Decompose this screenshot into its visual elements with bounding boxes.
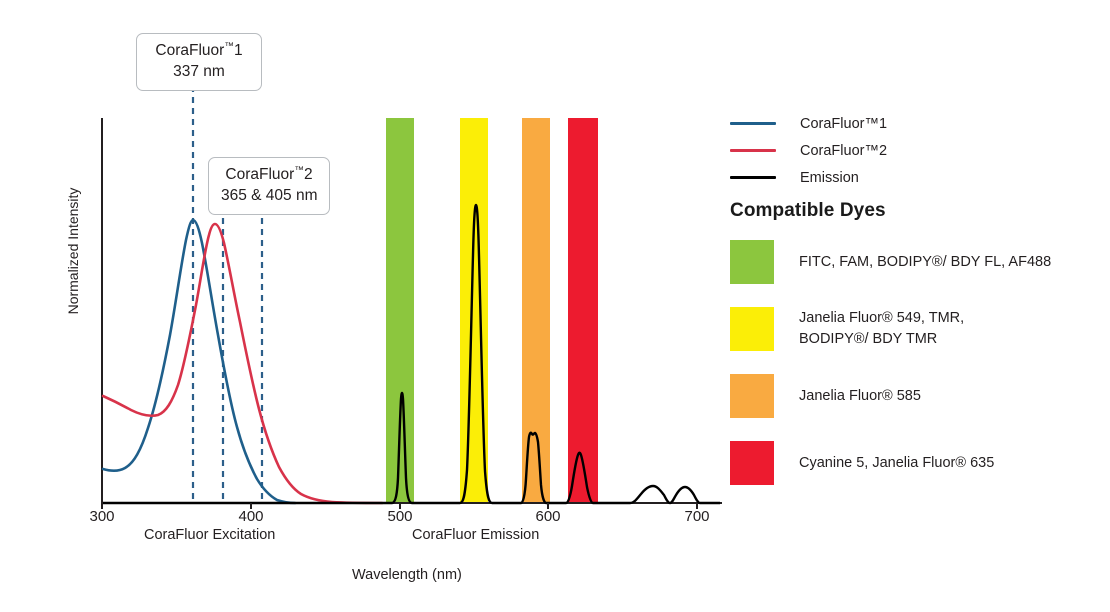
dye-label-yellow: Janelia Fluor® 549, TMR, BODIPY®/ BDY TM… [799, 308, 964, 349]
dye-item-red: Cyanine 5, Janelia Fluor® 635 [730, 438, 1110, 488]
legend-item-emission: Emission [730, 164, 1110, 191]
dye-color-swatch-red [730, 441, 774, 485]
legend-label-emission: Emission [800, 170, 859, 186]
emission-bands [386, 118, 598, 503]
legend-line-swatch-corafluor-1 [730, 122, 776, 125]
callout-corafluor-2: CoraFluor™2 365 & 405 nm [208, 157, 330, 215]
fluorescence-spectra-figure: Normalized Intensity 300 400 500 600 700… [0, 0, 1110, 612]
compatible-dyes-list: FITC, FAM, BODIPY®/ BDY FL, AF488 Janeli… [730, 237, 1110, 505]
dye-color-swatch-yellow [730, 307, 774, 351]
band-red [568, 118, 598, 503]
callout-2-title: CoraFluor™2 [221, 165, 317, 186]
dye-color-swatch-green [730, 240, 774, 284]
x-tick-600: 600 [518, 508, 578, 525]
compatible-dyes-heading: Compatible Dyes [730, 200, 886, 222]
emission-region-caption: CoraFluor Emission [412, 527, 539, 543]
dye-label-orange: Janelia Fluor® 585 [799, 386, 921, 407]
dye-item-yellow: Janelia Fluor® 549, TMR, BODIPY®/ BDY TM… [730, 304, 1110, 354]
x-tick-500: 500 [370, 508, 430, 525]
legend-label-corafluor-2: CoraFluor™2 [800, 143, 887, 159]
x-tick-400: 400 [221, 508, 281, 525]
plot-area: Normalized Intensity 300 400 500 600 700… [0, 0, 730, 612]
curve-corafluor-1 [103, 220, 295, 503]
legend-item-corafluor-1: CoraFluor™1 [730, 110, 1110, 137]
dye-label-red: Cyanine 5, Janelia Fluor® 635 [799, 453, 994, 474]
dye-item-green: FITC, FAM, BODIPY®/ BDY FL, AF488 [730, 237, 1110, 287]
x-axis-title: Wavelength (nm) [352, 567, 462, 583]
excitation-region-caption: CoraFluor Excitation [144, 527, 275, 543]
curve-corafluor-2 [103, 224, 382, 503]
legend-label-corafluor-1: CoraFluor™1 [800, 116, 887, 132]
excitation-reference-lines [193, 86, 262, 503]
callout-2-value: 365 & 405 nm [221, 186, 317, 206]
legend-item-corafluor-2: CoraFluor™2 [730, 137, 1110, 164]
dye-item-orange: Janelia Fluor® 585 [730, 371, 1110, 421]
band-orange [522, 118, 550, 503]
legend-line-swatch-corafluor-2 [730, 149, 776, 152]
legend-panel: CoraFluor™1 CoraFluor™2 Emission Compati… [730, 0, 1110, 612]
dye-label-green: FITC, FAM, BODIPY®/ BDY FL, AF488 [799, 252, 1051, 273]
y-axis-title: Normalized Intensity [65, 171, 81, 331]
callout-corafluor-1: CoraFluor™1 337 nm [136, 33, 262, 91]
legend-line-swatch-emission [730, 176, 776, 179]
callout-1-value: 337 nm [149, 62, 249, 82]
x-tick-300: 300 [72, 508, 132, 525]
x-tick-700: 700 [667, 508, 727, 525]
series-legend: CoraFluor™1 CoraFluor™2 Emission [730, 110, 1110, 191]
callout-1-title: CoraFluor™1 [149, 41, 249, 62]
dye-color-swatch-orange [730, 374, 774, 418]
